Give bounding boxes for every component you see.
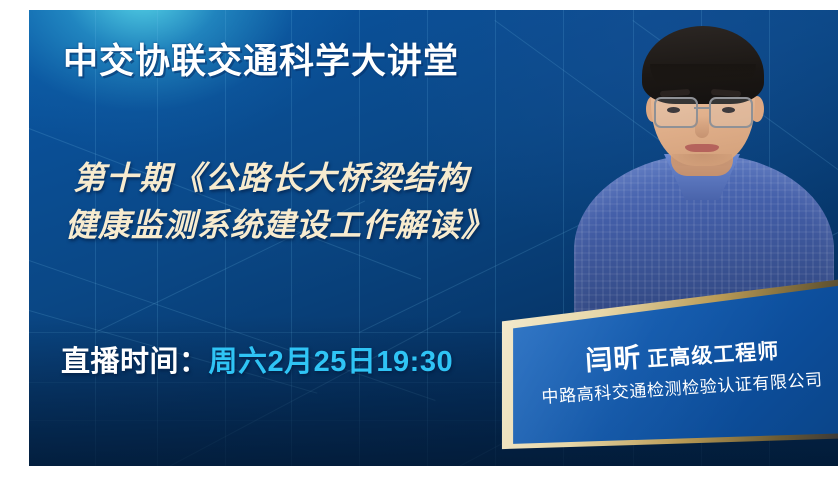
speaker-info-panel: 闫昕正高级工程师 中路高科交通检测检验认证有限公司 (496, 275, 838, 450)
live-time-label: 直播时间： (61, 346, 209, 378)
speaker-name: 闫昕 (584, 343, 642, 376)
subtitle-line-2: 健康监测系统建设工作解读》 (65, 200, 494, 246)
speaker-role: 正高级工程师 (647, 340, 780, 371)
webinar-poster: 中交协联交通科学大讲堂 第十期《公路长大桥梁结构 健康监测系统建设工作解读》 直… (29, 10, 838, 466)
live-time-row: 直播时间：周六2月25日19:30 (61, 338, 453, 380)
speaker-portrait-photo (554, 10, 838, 314)
live-time-value: 周六2月25日19:30 (209, 346, 454, 378)
subtitle-line-1: 第十期《公路长大桥梁结构 (73, 153, 469, 199)
page-title: 中交协联交通科学大讲堂 (63, 33, 459, 84)
